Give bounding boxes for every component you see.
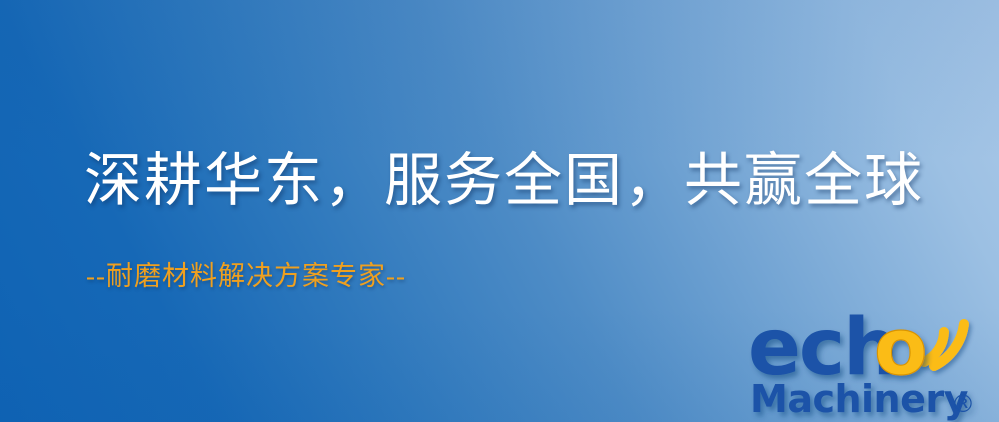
banner-headline: 深耕华东，服务全国，共赢全球: [84, 152, 924, 210]
banner-subtitle: --耐磨材料解决方案专家--: [86, 263, 406, 290]
logo-tagline: Machinery: [750, 377, 969, 421]
signal-arcs-icon: [924, 324, 964, 366]
logo-registered-mark: ®: [951, 390, 975, 418]
echo-machinery-logo: ech o Machinery ®: [748, 296, 996, 422]
promo-banner: 深耕华东，服务全国，共赢全球 --耐磨材料解决方案专家-- ech o: [0, 0, 999, 422]
